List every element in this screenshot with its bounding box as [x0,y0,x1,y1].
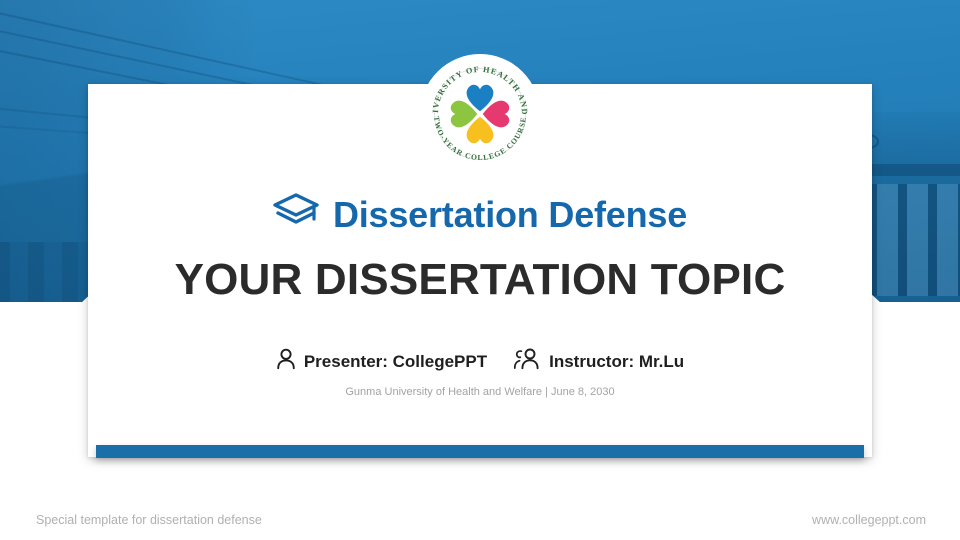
footer-left-text: Special template for dissertation defens… [36,513,262,527]
people-row: Presenter: CollegePPT Instructor: Mr.Lu [0,348,960,375]
person-icon [276,348,296,375]
headline-row: Dissertation Defense [0,192,960,237]
dissertation-topic-title: YOUR DISSERTATION TOPIC [0,255,960,305]
presentation-slide: GUNMA UNIVERSITY OF HEALTH AND WELFARE T… [0,0,960,540]
card-accent-bar [96,445,864,458]
presenter-item: Presenter: CollegePPT [276,348,487,375]
institution-date-line: Gunma University of Health and Welfare |… [0,386,960,398]
presenter-label: Presenter: CollegePPT [304,352,487,372]
graduation-cap-icon [273,192,319,237]
instructor-item: Instructor: Mr.Lu [513,348,684,375]
footer-right-text[interactable]: www.collegeppt.com [812,513,926,527]
instructor-label: Instructor: Mr.Lu [549,352,684,372]
university-seal-logo: GUNMA UNIVERSITY OF HEALTH AND WELFARE T… [420,54,540,174]
people-group-icon [513,348,541,375]
headline-text: Dissertation Defense [333,194,687,236]
